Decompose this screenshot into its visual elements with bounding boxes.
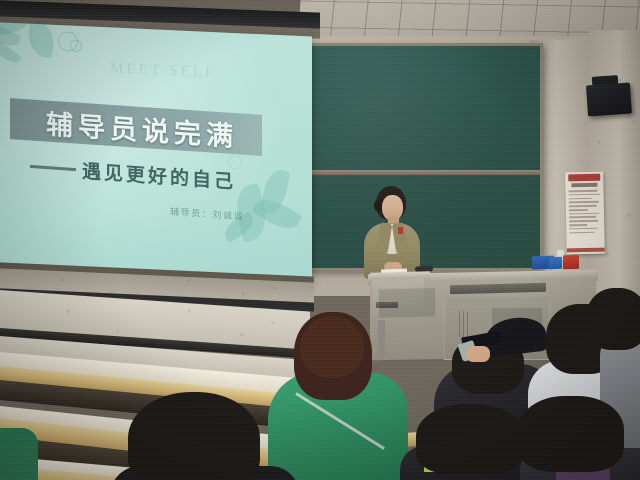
- slide-content: MEET SELF 辅导员说完满 遇见更好的自己 辅导员：刘诚诚: [0, 22, 312, 281]
- slide-presenter-credit: 辅导员：刘诚诚: [170, 204, 300, 226]
- student-hand: [466, 346, 490, 362]
- projection-screen: MEET SELF 辅导员说完满 遇见更好的自己 辅导员：刘诚诚: [0, 22, 312, 281]
- wall-speaker: [586, 83, 632, 117]
- poster-footer-banner: [567, 248, 605, 253]
- wall-right-column: [588, 30, 640, 310]
- student-purple-top-head: [518, 396, 624, 472]
- slide-subtitle-row: 遇见更好的自己: [30, 152, 262, 196]
- slide-subtitle: 遇见更好的自己: [82, 156, 236, 194]
- wall-texture: [588, 30, 640, 310]
- student-hair-highlight: [300, 316, 364, 378]
- lectern-leg: [378, 320, 385, 358]
- poster-header-banner: [568, 174, 600, 182]
- presenter-badge: [398, 227, 403, 234]
- student-left-edge-sleeve: [0, 428, 38, 480]
- poster-title-bar: [571, 183, 597, 188]
- blackboard-chalk-rail: [308, 170, 540, 175]
- slide-watermark-text: MEET SELF: [110, 60, 280, 85]
- lecture-hall-photo: MEET SELF 辅导员说完满 遇见更好的自己 辅导员：刘诚诚: [0, 0, 640, 480]
- red-box-package: [563, 255, 579, 270]
- slide-title: 辅导员说完满: [22, 101, 262, 155]
- student-front-left-head: [128, 392, 260, 480]
- subtitle-dash-rule: [30, 164, 76, 170]
- student-yellow-collar-head: [416, 404, 524, 474]
- student-gray-shirt-head: [586, 288, 640, 350]
- blue-box-package: [549, 257, 562, 269]
- presenter: [358, 186, 426, 278]
- notice-poster: [565, 172, 605, 255]
- desk-side-panel: [378, 287, 436, 319]
